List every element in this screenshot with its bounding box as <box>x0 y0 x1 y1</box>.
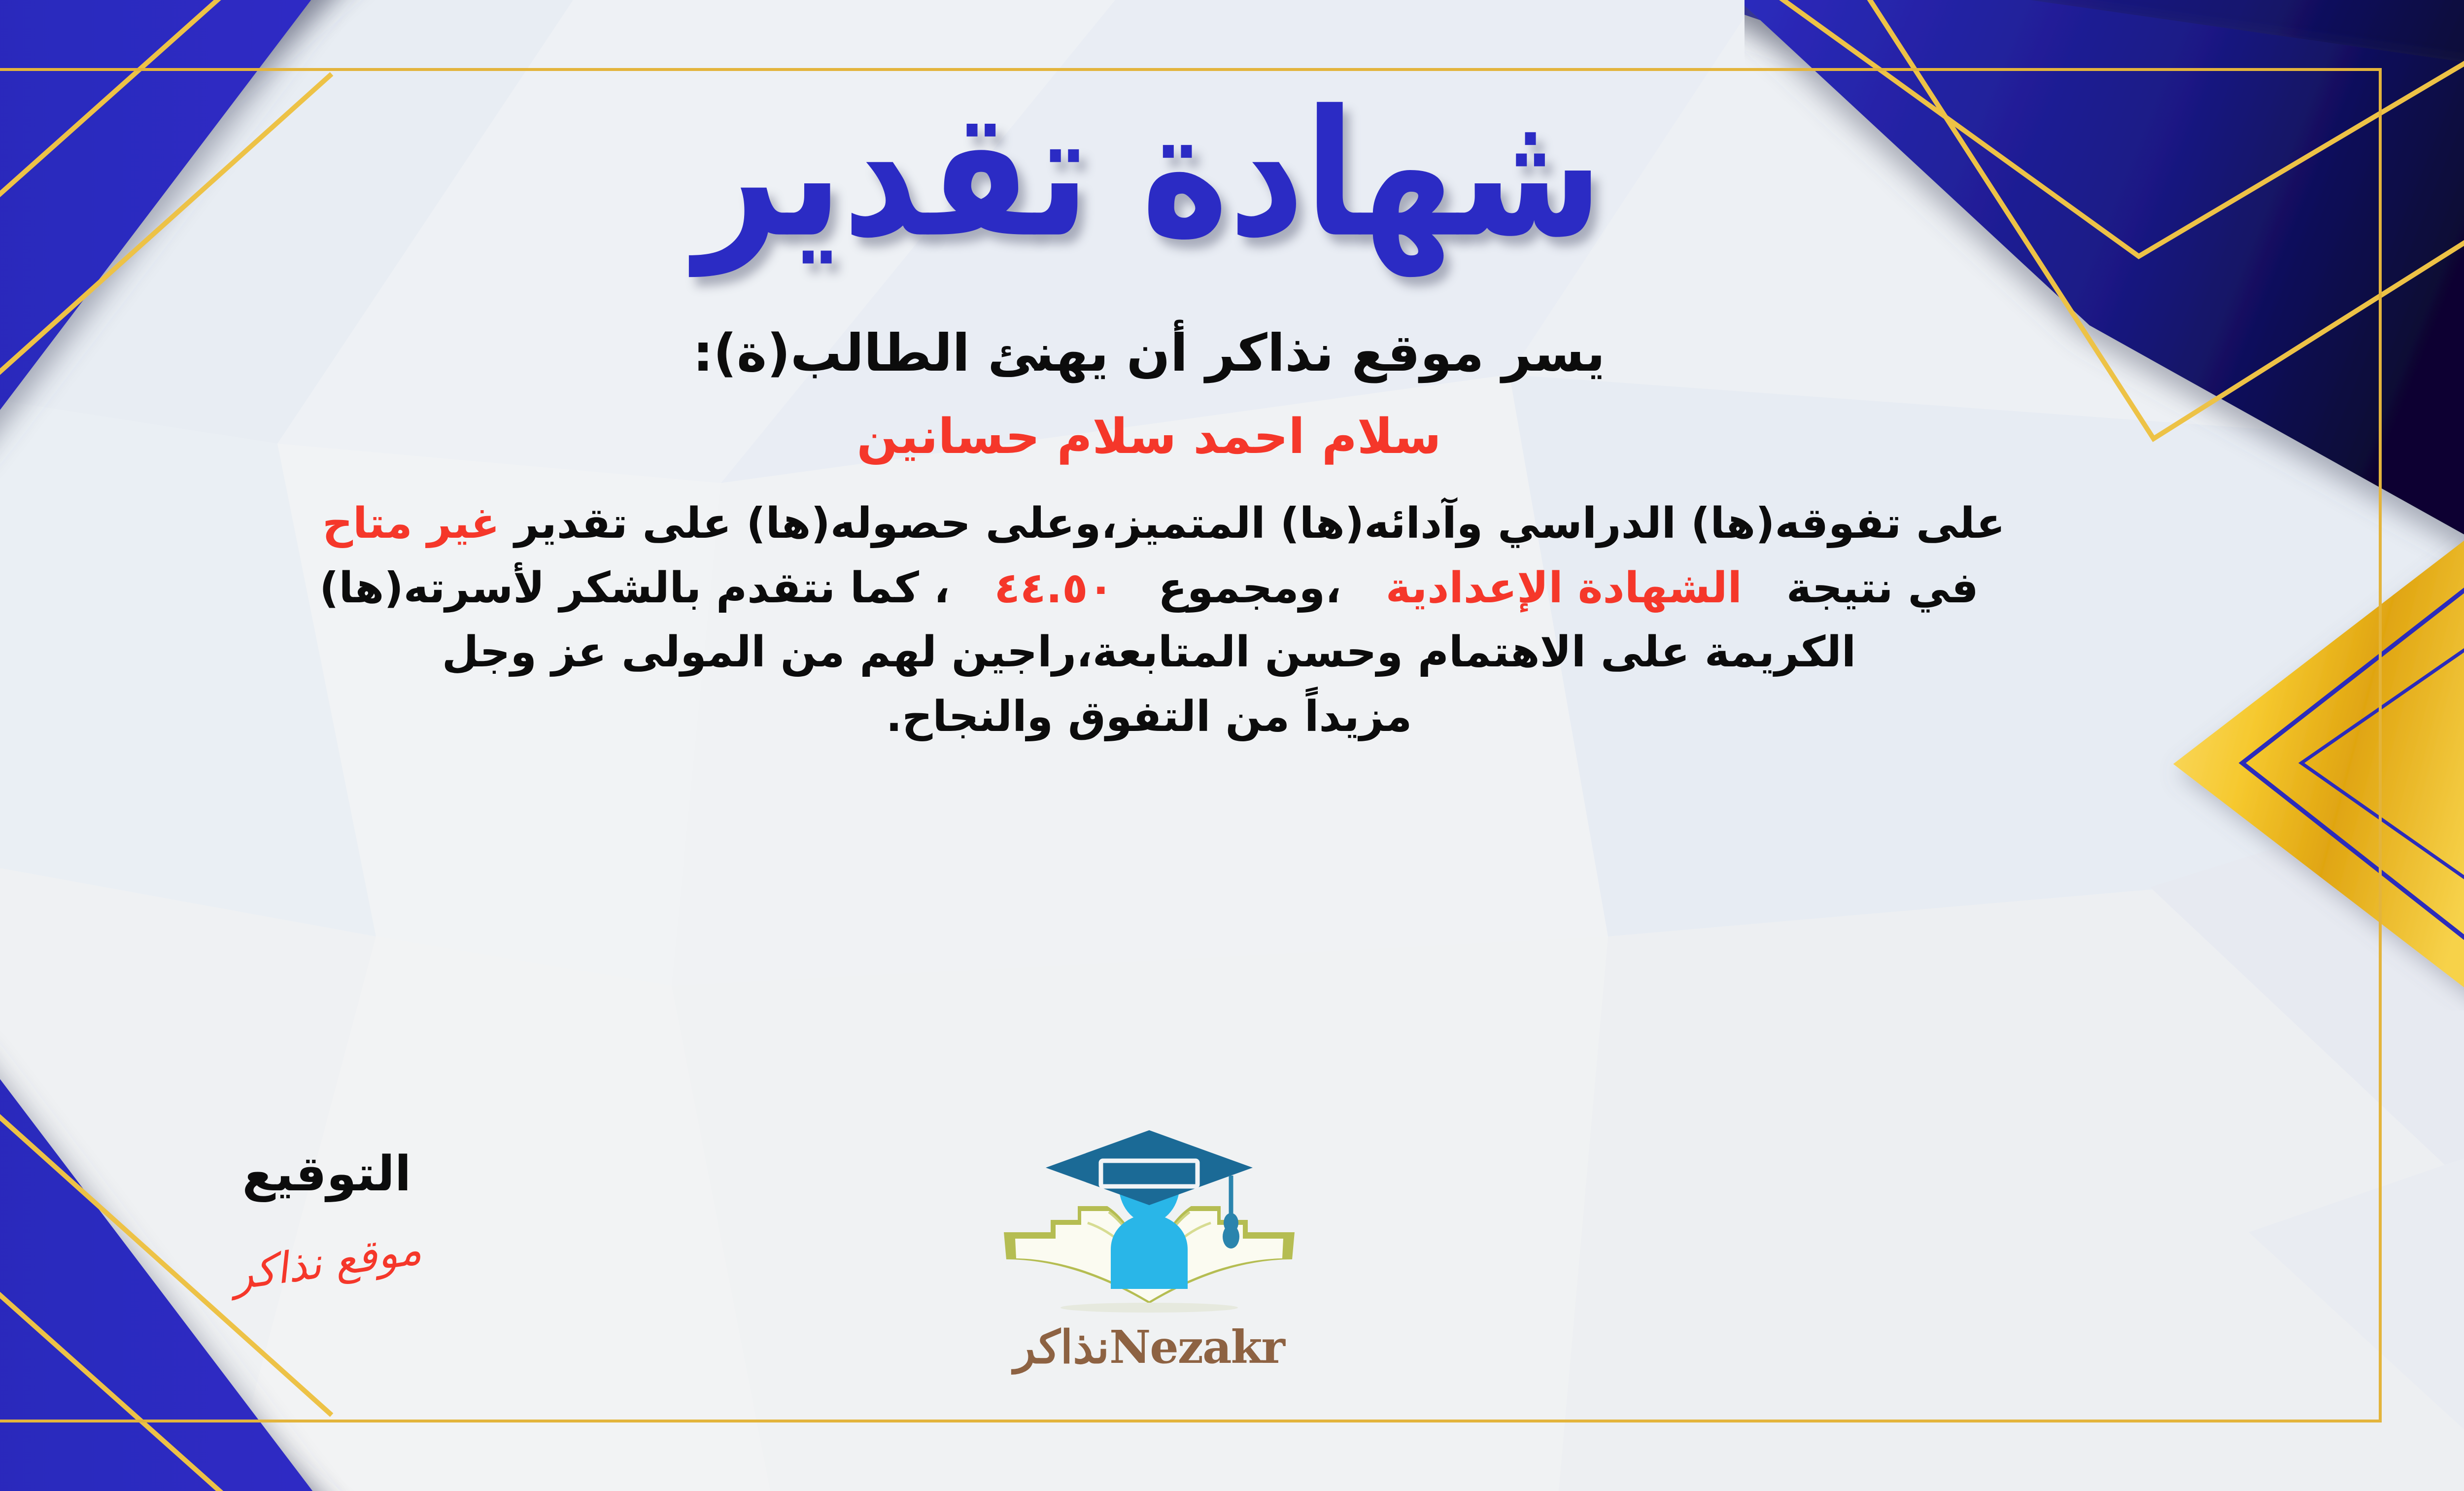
exam-name: الشهادة الإعدادية <box>1356 563 1772 613</box>
body-line-3: الكريمة على الاهتمام وحسن المتابعة،راجين… <box>16 620 2283 685</box>
total-score: ٤٤.٥٠ <box>965 563 1144 613</box>
logo-wordmark-arabic: نذاكر <box>1014 1320 1109 1374</box>
body-line-2-suffix: ، كما نتقدم بالشكر لأسرته(ها) <box>319 563 950 613</box>
body-line-1: على تفوقه(ها) الدراسي وآدائه(ها) المتميز… <box>16 491 2283 556</box>
body-line-1-text: على تفوقه(ها) الدراسي وآدائه(ها) المتميز… <box>514 499 2005 548</box>
graduate-on-open-book-icon <box>977 1126 1322 1318</box>
grade-value: غير متاح <box>293 499 500 548</box>
certificate-canvas: شهادة تقدير يسر موقع نذاكر أن يهنئ الطال… <box>0 0 2464 1491</box>
site-logo: Nezakrنذاكر <box>977 1126 1322 1374</box>
signature-script: موقع نذاكر <box>229 1225 424 1300</box>
body-line-2-middle: ،ومجموع <box>1158 563 1341 613</box>
body-line-4: مزيداً من التفوق والنجاح. <box>16 685 2283 749</box>
certificate-footer: التوقيع موقع نذاكر <box>0 1116 2464 1432</box>
body-line-2-prefix: في نتيجة <box>1786 563 1979 613</box>
signature-block: التوقيع موقع نذاكر <box>154 1146 499 1287</box>
signature-label: التوقيع <box>154 1146 499 1202</box>
certificate-body: على تفوقه(ها) الدراسي وآدائه(ها) المتميز… <box>16 491 2283 749</box>
logo-wordmark-latin: Nezakr <box>1109 1320 1284 1374</box>
logo-wordmark: Nezakrنذاكر <box>977 1320 1322 1374</box>
logo-mark <box>977 1126 1322 1318</box>
body-line-2: في نتيجة الشهادة الإعدادية ،ومجموع ٤٤.٥٠… <box>16 556 2283 621</box>
certificate-title: شهادة تقدير <box>695 74 1603 275</box>
congratulations-intro-line: يسر موقع نذاكر أن يهنئ الطالب(ة): <box>693 323 1605 383</box>
student-name: سلام احمد سلام حسانين <box>856 409 1441 465</box>
